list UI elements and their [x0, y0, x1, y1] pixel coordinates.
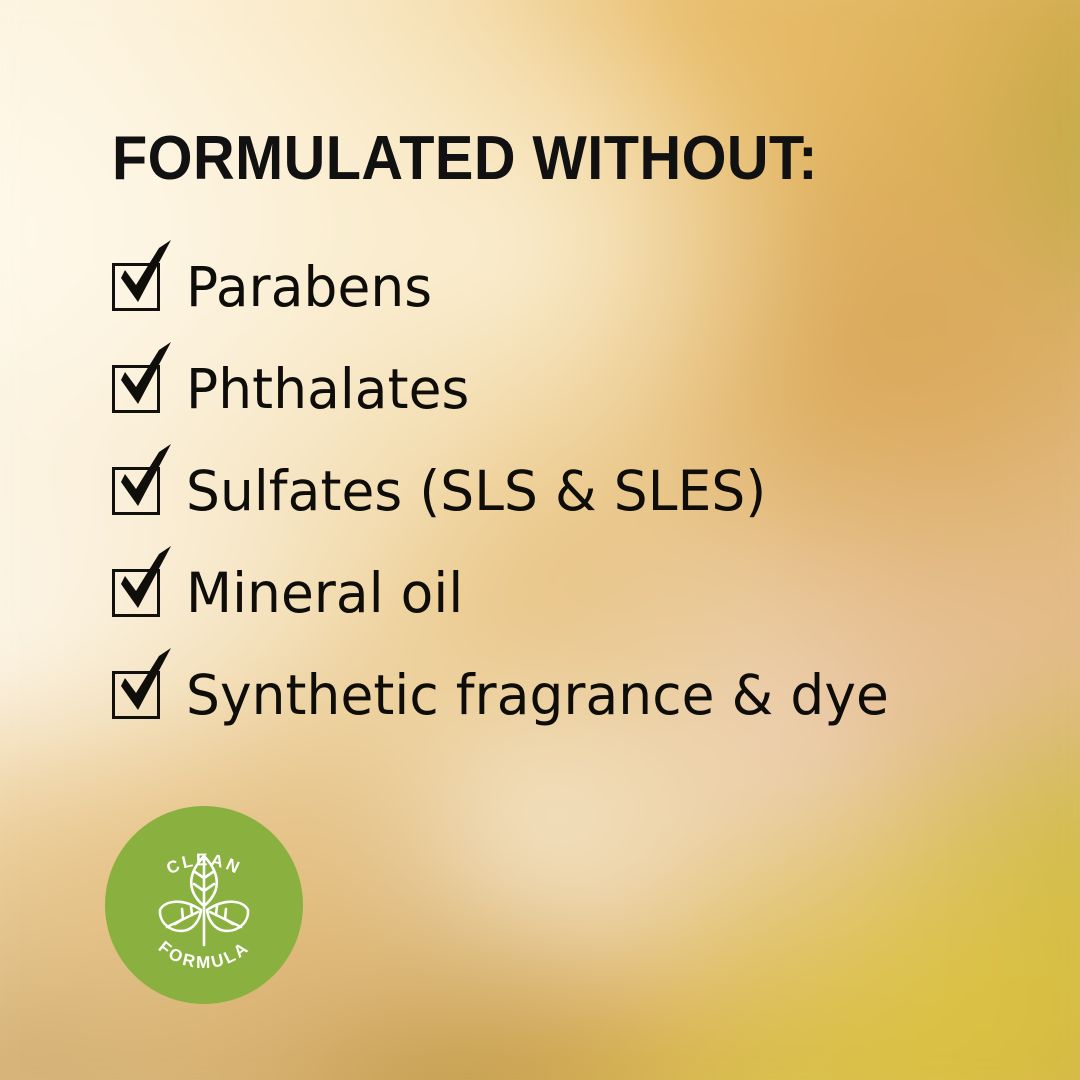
checkbox-checked: [112, 671, 160, 719]
list-item-label: Sulfates (SLS & SLES): [186, 464, 766, 519]
list-item: Sulfates (SLS & SLES): [112, 457, 911, 525]
page-title: FORMULATED WITHOUT:: [112, 128, 818, 190]
list-item-label: Mineral oil: [186, 566, 463, 621]
list-item: Phthalates: [112, 355, 911, 423]
badge-artwork: CLEAN FORMULA: [105, 806, 303, 1004]
promo-graphic: FORMULATED WITHOUT: Parabens Phthalates: [0, 0, 1080, 1080]
checkbox-checked: [112, 365, 160, 413]
list-item-label: Parabens: [186, 260, 432, 315]
excluded-ingredients-list: Parabens Phthalates Sulfates (SLS & SLES…: [112, 253, 911, 729]
list-item-label: Phthalates: [186, 362, 469, 417]
checkmark-icon: [111, 444, 185, 518]
checkbox-checked: [112, 263, 160, 311]
checkbox-checked: [112, 467, 160, 515]
checkbox-checked: [112, 569, 160, 617]
list-item: Parabens: [112, 253, 911, 321]
checkmark-icon: [111, 648, 185, 722]
checkmark-icon: [111, 240, 185, 314]
list-item: Synthetic fragrance & dye: [112, 661, 911, 729]
list-item-label: Synthetic fragrance & dye: [186, 668, 889, 723]
clean-formula-badge: CLEAN FORMULA: [105, 806, 303, 1004]
checkmark-icon: [111, 342, 185, 416]
list-item: Mineral oil: [112, 559, 911, 627]
checkmark-icon: [111, 546, 185, 620]
